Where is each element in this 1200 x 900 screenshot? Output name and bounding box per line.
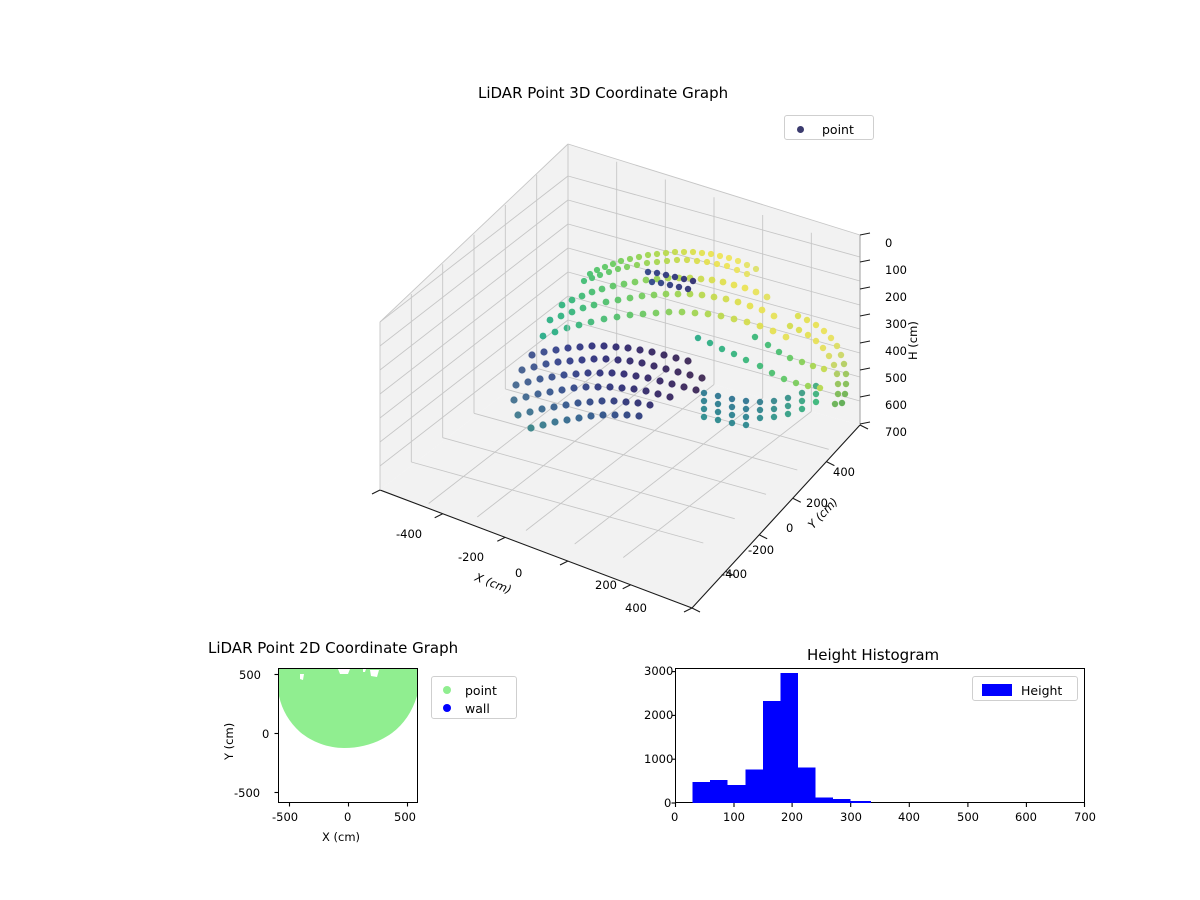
axis-2d-xtick-0: -500 xyxy=(272,810,298,824)
point-cloud-2d xyxy=(279,669,417,748)
axis-3d-ztick-6: 600 xyxy=(885,398,907,412)
axis-2d-xtick-1: 0 xyxy=(344,810,351,824)
axis-2d-xtick-2: 500 xyxy=(394,810,416,824)
hist-bar-2 xyxy=(728,785,746,803)
axis-hist-ytick-1: 1000 xyxy=(644,752,673,766)
axis-3d-xtick-0: -400 xyxy=(396,527,422,541)
axis-hist-ytick-3: 3000 xyxy=(644,664,673,678)
axis-hist-xtick-6: 600 xyxy=(1015,810,1037,824)
legend-3d-item-point[interactable]: point xyxy=(793,120,865,138)
hist-bar-4 xyxy=(763,701,781,803)
histogram-bars xyxy=(693,673,872,803)
axis-3d-ztick-0: 0 xyxy=(885,236,892,250)
hist-bar-0 xyxy=(693,782,711,803)
axes-3d-canvas xyxy=(300,130,920,630)
hist-bar-5 xyxy=(780,673,798,803)
hist-bar-8 xyxy=(833,799,851,803)
axis-3d-ytick-0: -400 xyxy=(721,567,747,581)
hist-bar-6 xyxy=(798,768,816,804)
axis-3d-xtick-2: 0 xyxy=(515,566,522,580)
axis-3d-ytick-4: 400 xyxy=(833,465,855,479)
legend-3d[interactable]: point xyxy=(784,115,874,140)
axis-hist-ytick-2: 2000 xyxy=(644,708,673,722)
legend-2d-item-point-label: point xyxy=(465,683,497,698)
axes-3d[interactable] xyxy=(300,130,920,630)
hist-bar-9 xyxy=(851,801,872,803)
axis-3d-ytick-2: 0 xyxy=(786,521,793,535)
hist-bar-7 xyxy=(816,798,834,803)
axis-2d-ytick-0: -500 xyxy=(234,786,260,800)
wall-marker-icon xyxy=(443,704,451,712)
legend-histogram[interactable]: Height xyxy=(972,676,1078,701)
panel-3d-title: LiDAR Point 3D Coordinate Graph xyxy=(478,84,728,102)
axis-3d-ztick-7: 700 xyxy=(885,425,907,439)
axis-hist-xtick-1: 100 xyxy=(723,810,745,824)
axis-hist-xtick-5: 500 xyxy=(957,810,979,824)
point-marker-icon xyxy=(797,126,804,133)
axes-2d[interactable] xyxy=(278,668,418,803)
axis-hist-ytick-0: 0 xyxy=(664,796,671,810)
axis-3d-ztick-1: 100 xyxy=(885,263,907,277)
axis-3d-xtick-1: -200 xyxy=(458,550,484,564)
panel-2d-title: LiDAR Point 2D Coordinate Graph xyxy=(208,639,458,657)
height-swatch-icon xyxy=(982,684,1012,696)
axis-3d-ytick-1: -200 xyxy=(748,543,774,557)
legend-hist-item-height-label: Height xyxy=(1021,683,1062,698)
axis-2d-xlabel: X (cm) xyxy=(322,830,360,844)
axis-2d-ylabel: Y (cm) xyxy=(222,723,236,760)
point-marker-icon xyxy=(443,686,451,694)
panel-hist-title: Height Histogram xyxy=(807,646,939,664)
axis-hist-xtick-2: 200 xyxy=(781,810,803,824)
legend-2d-item-wall[interactable]: wall xyxy=(440,699,508,717)
axis-3d-ztick-4: 400 xyxy=(885,344,907,358)
axis-hist-xtick-0: 0 xyxy=(671,810,678,824)
legend-2d-item-wall-label: wall xyxy=(465,701,490,716)
axis-3d-xtick-3: 200 xyxy=(595,578,617,592)
hist-bar-3 xyxy=(745,769,763,803)
hist-bar-1 xyxy=(710,780,728,803)
axis-3d-ztick-3: 300 xyxy=(885,317,907,331)
legend-3d-item-point-label: point xyxy=(822,122,854,137)
axis-3d-xtick-4: 400 xyxy=(625,601,647,615)
axis-2d-ytick-1: 0 xyxy=(262,727,269,741)
legend-hist-item-height[interactable]: Height xyxy=(981,681,1069,699)
matplotlib-figure: LiDAR Point 3D Coordinate Graph xyxy=(0,0,1200,900)
axis-hist-xtick-7: 700 xyxy=(1074,810,1096,824)
axis-2d-ytick-2: 500 xyxy=(239,668,261,682)
legend-2d-item-point[interactable]: point xyxy=(440,681,508,699)
axis-3d-ztick-2: 200 xyxy=(885,290,907,304)
axes-2d-canvas xyxy=(278,668,418,803)
axis-hist-xtick-4: 400 xyxy=(898,810,920,824)
axis-3d-zlabel: H (cm) xyxy=(906,321,920,360)
legend-2d[interactable]: point wall xyxy=(431,676,517,719)
axis-3d-ztick-5: 500 xyxy=(885,371,907,385)
axis-hist-xtick-3: 300 xyxy=(840,810,862,824)
